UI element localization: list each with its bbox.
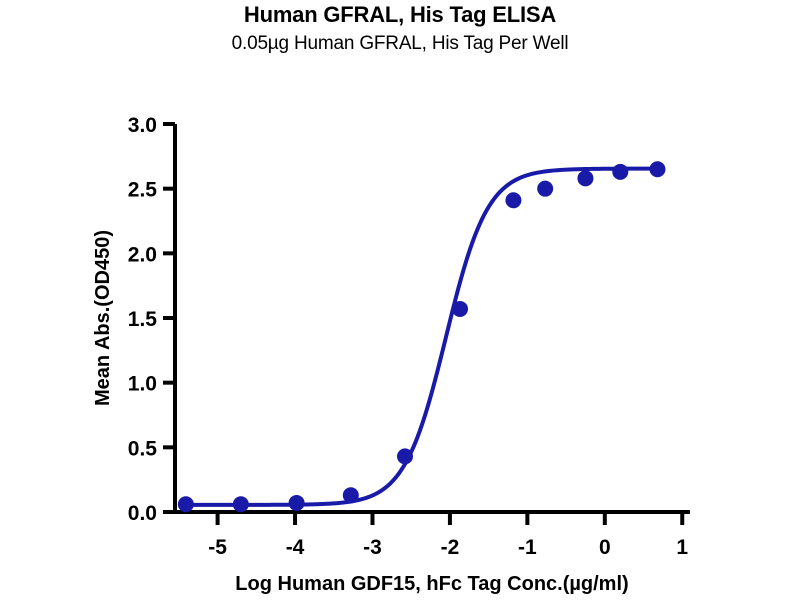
sigmoid-fit-curve <box>186 169 658 505</box>
x-axis-title: Log Human GDF15, hFc Tag Conc.(µg/ml) <box>235 573 628 595</box>
y-axis-tick-labels: 0.00.51.01.52.02.53.0 <box>128 114 158 525</box>
x-axis-tick-labels: -5-4-3-2-101 <box>208 536 688 559</box>
y-tick-label: 0.5 <box>128 437 158 460</box>
x-tick-label: -2 <box>441 536 460 559</box>
y-tick-label: 1.5 <box>128 308 158 331</box>
data-point <box>289 495 305 511</box>
y-tick-label: 2.0 <box>128 243 157 266</box>
data-point <box>612 164 628 180</box>
x-tick-label: -1 <box>518 536 537 559</box>
y-tick-label: 2.5 <box>128 179 158 202</box>
data-point <box>649 161 665 177</box>
chart-page: Human GFRAL, His Tag ELISA 0.05µg Human … <box>0 0 800 600</box>
x-tick-label: -3 <box>363 536 382 559</box>
y-tick-label: 0.0 <box>128 502 157 525</box>
data-point <box>397 448 413 464</box>
data-point-group <box>178 161 666 512</box>
y-tick-label: 3.0 <box>128 114 157 137</box>
x-tick-label: -4 <box>286 536 305 559</box>
y-tick-label: 1.0 <box>128 373 157 396</box>
data-point <box>233 496 249 512</box>
data-point <box>577 170 593 186</box>
elisa-sigmoid-chart: 0.00.51.01.52.02.53.0 -5-4-3-2-101 Mean … <box>0 0 800 600</box>
data-point <box>537 181 553 197</box>
data-point <box>452 301 468 317</box>
data-point <box>178 496 194 512</box>
x-tick-label: -5 <box>208 536 227 559</box>
y-axis-title: Mean Abs.(OD450) <box>92 230 114 406</box>
x-tick-label: 1 <box>676 536 688 559</box>
data-point <box>505 192 521 208</box>
data-point <box>343 487 359 503</box>
x-tick-label: 0 <box>599 536 611 559</box>
